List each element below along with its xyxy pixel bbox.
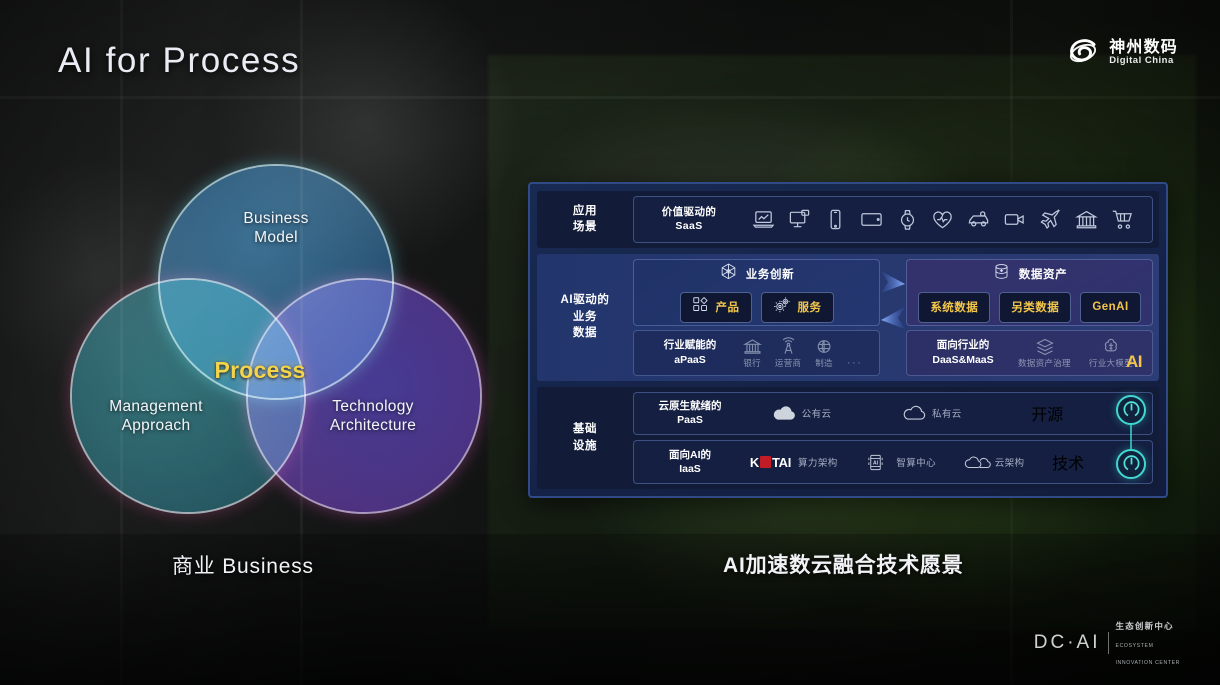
chip-label-genai: GenAI <box>1092 301 1128 313</box>
brand-name-cn: 神州数码 <box>1109 40 1178 57</box>
row-label-line2: 场景 <box>573 219 597 236</box>
ai-overlay-badge: AI <box>1126 352 1142 372</box>
group-title-business-innovation: 业务创新 <box>746 266 794 282</box>
paas-label-public-cloud: 公有云 <box>802 406 832 420</box>
multi-cloud-icon <box>964 453 988 471</box>
row-label-line1: AI驱动的 <box>561 292 610 309</box>
antenna-tower-icon <box>779 337 798 356</box>
tag-line2: PaaS <box>644 413 736 427</box>
footer-logo: DC·AI 生态创新中心 ECOSYSTEM INNOVATION CENTER <box>1034 616 1180 669</box>
chip-row-data-assets: 系统数据 另类数据 GenAI <box>918 292 1140 323</box>
ai-datacenter-icon: AI <box>865 453 889 471</box>
apaas-ellipsis: ··· <box>847 357 863 369</box>
paas-item-private-cloud[interactable]: 私有云 <box>901 404 962 422</box>
car-icon[interactable] <box>967 208 990 231</box>
group-header-business-innovation: 业务创新 <box>719 262 794 286</box>
row-ai-driven-business-data: AI驱动的 业务 数据 业务创新 <box>537 254 1159 381</box>
chip-label-system-data: 系统数据 <box>930 299 978 315</box>
footer-center-name-en-line2: INNOVATION CENTER <box>1116 660 1180 666</box>
gears-icon <box>773 296 791 319</box>
venn-diagram: Business Model Management Approach Techn… <box>60 160 460 520</box>
tag-cloud-native-paas: 云原生就绪的 PaaS <box>644 399 736 427</box>
brand-name-en: Digital China <box>1109 56 1178 66</box>
tag-line1: 云原生就绪的 <box>644 399 736 413</box>
chip-label-product: 产品 <box>716 299 740 315</box>
iaas-label-compute-architecture: 算力架构 <box>798 455 838 469</box>
tablet-icon[interactable] <box>860 208 883 231</box>
cloud-filled-icon <box>771 404 795 422</box>
venn-label-line1: Management <box>84 398 228 417</box>
kutai-logo-icon: K TAI <box>750 455 791 470</box>
row-label-line1: 基础 <box>573 421 597 438</box>
chip-label-alternative-data: 另类数据 <box>1011 299 1059 315</box>
chip-row-business-innovation: 产品 服务 <box>680 292 834 323</box>
bidirectional-arrows-icon <box>878 263 908 339</box>
badge-connector-line <box>1130 425 1132 449</box>
openshift-ring-icon-technology[interactable] <box>1116 449 1146 479</box>
group-data-assets: 数据资产 系统数据 另类数据 GenAI <box>906 259 1153 326</box>
iaas-label-cloud-architecture: 云架构 <box>995 455 1025 469</box>
venn-center-label-process: Process <box>190 356 330 384</box>
cell-cloud-native-paas[interactable]: 云原生就绪的 PaaS 公有云 私有云 开源 <box>633 392 1153 436</box>
chip-product[interactable]: 产品 <box>680 292 752 323</box>
brand-logo: 神州数码 Digital China <box>1066 36 1178 70</box>
chip-label-service: 服务 <box>798 299 822 315</box>
chip-service[interactable]: 服务 <box>761 292 834 323</box>
scenario-icon-strip <box>732 208 1140 231</box>
row-label-line1: 应用 <box>573 203 597 220</box>
cloud-outline-icon <box>901 404 925 422</box>
tag-ai-oriented-iaas: 面向AI的 IaaS <box>644 448 736 476</box>
tag-line1: 行业赋能的 <box>644 338 736 352</box>
page-title: AI for Process <box>58 41 300 81</box>
kutai-logo-square <box>760 456 771 468</box>
row-label-line3: 数据 <box>573 325 597 342</box>
venn-label-line2: Model <box>216 229 336 248</box>
daas-item-industry-llm[interactable]: 行业大模型 AI <box>1089 337 1133 369</box>
row-label-infrastructure: 基础 设施 <box>537 387 633 489</box>
row-label-ai-driven-business-data: AI驱动的 业务 数据 <box>537 254 633 381</box>
apaas-label-banking: 银行 <box>743 357 761 369</box>
footer-center-name-cn: 生态创新中心 <box>1116 621 1174 631</box>
footer-dc-ai: DC·AI <box>1034 632 1101 654</box>
row-infrastructure: 基础 设施 云原生就绪的 PaaS 公有云 私有云 <box>537 387 1159 489</box>
row-label-application-scenarios: 应用 场景 <box>537 191 633 248</box>
tag-line2: SaaS <box>646 219 732 233</box>
caption-ai-vision: AI加速数云融合技术愿景 <box>723 549 964 579</box>
brain-circuit-icon <box>1101 337 1120 356</box>
infrastructure-badge-group <box>1116 395 1148 485</box>
row-body-application-scenarios: 价值驱动的 SaaS <box>633 191 1159 248</box>
footer-center-name-en-line1: ECOSYSTEM <box>1116 643 1154 649</box>
architecture-panel: 应用 场景 价值驱动的 SaaS <box>528 182 1168 498</box>
apaas-label-manufacturing: 制造 <box>815 357 833 369</box>
cube-network-icon <box>719 262 738 286</box>
shopping-cart-icon[interactable] <box>1111 208 1134 231</box>
venn-label-line1: Technology <box>298 398 448 417</box>
group-title-data-assets: 数据资产 <box>1019 266 1067 282</box>
daas-item-list: 数据资产治理 行业大模型 AI <box>1009 337 1142 369</box>
apaas-item-banking[interactable]: 银行 <box>743 337 762 369</box>
row-application-scenarios: 应用 场景 价值驱动的 SaaS <box>537 191 1159 248</box>
tag-line2: IaaS <box>644 462 736 476</box>
apaas-label-telecom: 运营商 <box>775 357 801 369</box>
heartbeat-icon[interactable] <box>931 208 954 231</box>
kutai-logo-k: K <box>750 455 759 470</box>
row-body-ai-driven-business-data: 业务创新 产品 <box>633 254 1159 381</box>
iaas-item-compute-architecture[interactable]: K TAI 算力架构 <box>750 455 838 470</box>
openshift-ring-icon-opensource[interactable] <box>1116 395 1146 425</box>
database-icon <box>992 262 1011 286</box>
caption-business: 商业 Business <box>172 550 314 580</box>
row-label-line2: 业务 <box>573 309 597 326</box>
smartphone-icon[interactable] <box>824 208 847 231</box>
cell-value-driven-saas[interactable]: 价值驱动的 SaaS <box>633 196 1153 243</box>
group-header-data-assets: 数据资产 <box>992 262 1067 286</box>
cell-industry-apaas[interactable]: 行业赋能的 aPaaS 银行 运营商 <box>633 330 880 376</box>
tag-value-driven-saas: 价值驱动的 SaaS <box>646 205 732 233</box>
apaas-item-list: 银行 运营商 制造 ··· <box>736 337 869 369</box>
venn-label-line2: Approach <box>84 417 228 436</box>
tag-line2: DaaS&MaaS <box>917 353 1009 367</box>
laptop-chart-icon[interactable] <box>752 208 775 231</box>
tag-line2: aPaaS <box>644 353 736 367</box>
venn-label-business-model: Business Model <box>216 210 336 248</box>
kutai-logo-tai: TAI <box>772 455 791 470</box>
venn-label-technology-architecture: Technology Architecture <box>298 398 448 436</box>
paas-item-list: 公有云 私有云 开源 <box>736 401 1140 425</box>
cell-ai-oriented-iaas[interactable]: 面向AI的 IaaS K TAI 算力架构 <box>633 440 1153 484</box>
layered-data-icon <box>1035 337 1054 356</box>
daas-label-data-governance: 数据资产治理 <box>1018 357 1071 369</box>
row-label-line2: 设施 <box>573 438 597 455</box>
iaas-item-ai-datacenter[interactable]: AI 智算中心 <box>865 453 936 471</box>
data-duo-container: 业务创新 产品 <box>633 259 1153 326</box>
venn-label-line2: Architecture <box>298 417 448 436</box>
swirl-galaxy-icon <box>1066 36 1100 70</box>
chip-alternative-data[interactable]: 另类数据 <box>999 292 1071 323</box>
tag-line1: 价值驱动的 <box>646 205 732 219</box>
svg-text:AI: AI <box>873 461 879 467</box>
footer-divider <box>1108 632 1109 654</box>
airplane-icon[interactable] <box>1039 208 1062 231</box>
paas-badge-label-opensource: 开源 <box>1031 401 1105 425</box>
desktop-monitor-icon[interactable] <box>788 208 811 231</box>
daas-item-data-governance[interactable]: 数据资产治理 <box>1018 337 1071 369</box>
paas-item-public-cloud[interactable]: 公有云 <box>771 404 832 422</box>
row-body-infrastructure: 云原生就绪的 PaaS 公有云 私有云 开源 面向 <box>633 387 1159 489</box>
iaas-label-ai-datacenter: 智算中心 <box>896 455 936 469</box>
iaas-item-list: K TAI 算力架构 AI <box>736 450 1140 474</box>
bank-icon[interactable] <box>1075 208 1098 231</box>
tag-industry-daas-maas: 面向行业的 DaaS&MaaS <box>917 338 1009 366</box>
chip-system-data[interactable]: 系统数据 <box>918 292 990 323</box>
apaas-item-telecom[interactable]: 运营商 <box>775 337 801 369</box>
iaas-item-cloud-architecture[interactable]: 云架构 <box>964 453 1025 471</box>
chip-genai[interactable]: GenAI <box>1080 292 1140 323</box>
tag-line1: 面向AI的 <box>644 448 736 462</box>
shapes-icon <box>692 296 709 318</box>
group-business-innovation: 业务创新 产品 <box>633 259 880 326</box>
gear-globe-icon <box>815 337 834 356</box>
bank-icon <box>743 337 762 356</box>
video-camera-icon[interactable] <box>1003 208 1026 231</box>
smartwatch-icon[interactable] <box>896 208 919 231</box>
tag-industry-apaas: 行业赋能的 aPaaS <box>644 338 736 366</box>
tag-line1: 面向行业的 <box>917 338 1009 352</box>
cell-industry-daas-maas[interactable]: 面向行业的 DaaS&MaaS 数据资产治理 行业大模型 AI <box>906 330 1153 376</box>
apaas-item-manufacturing[interactable]: 制造 <box>815 337 834 369</box>
venn-label-management-approach: Management Approach <box>84 398 228 436</box>
paas-label-private-cloud: 私有云 <box>932 406 962 420</box>
venn-label-line1: Business <box>216 210 336 229</box>
